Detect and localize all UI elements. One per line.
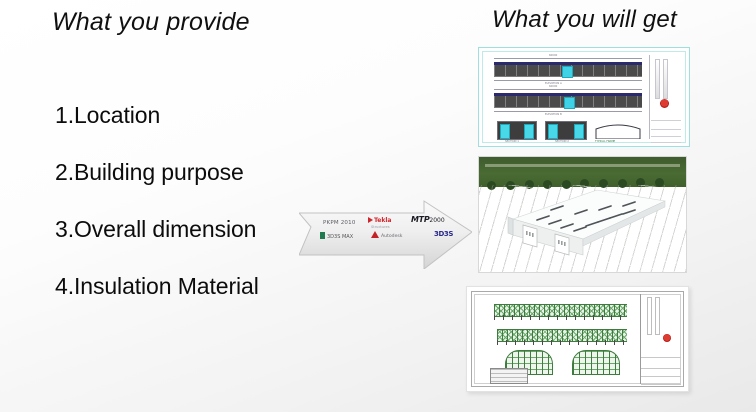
dimension-text-2: 60000 [549, 85, 557, 88]
drawing-title-block [640, 294, 681, 384]
elevation-view-1 [494, 62, 642, 77]
entry-door [562, 66, 573, 78]
title-block-row [641, 376, 681, 385]
title-strip-2 [655, 297, 660, 335]
list-item-insulation: 4.Insulation Material [55, 271, 385, 328]
title-strip-1 [647, 297, 652, 335]
section-label-1: SECTION 1 [505, 140, 519, 143]
portal-frame-2 [572, 350, 620, 375]
entry-door [564, 97, 575, 109]
window-pane [574, 124, 584, 139]
dimension-line-bottom-2 [494, 111, 642, 112]
window-pane [548, 124, 558, 139]
side-wall [508, 217, 513, 235]
view-label-2: ELEVATION B [545, 113, 562, 116]
cad-elevation-drawing: 60000 ELEVATION A 60000 ELEVATION B SECT… [478, 47, 690, 147]
logo-3d3s-max-label: 3D3S MAX [327, 234, 353, 240]
arrow-software-logos: PKPM 2010 3D3S MAX Tekla Structures Auto… [299, 199, 472, 269]
cad-sheet-frame: 60000 ELEVATION A 60000 ELEVATION B SECT… [482, 51, 686, 143]
title-bar-strip-2 [663, 59, 668, 99]
dimension-line-top-1 [494, 58, 642, 59]
logo-pkpm-label: PKPM 2010 [323, 220, 356, 226]
dimension-line-bottom-1 [494, 80, 642, 81]
list-item-location: 1.Location [55, 100, 385, 157]
tekla-triangle-icon [368, 217, 373, 223]
title-bar-strip-1 [655, 59, 660, 99]
logo-autodesk-label: Autodesk [381, 234, 402, 239]
drawing-sheet [471, 291, 684, 387]
logo-tekla-label: Tekla [374, 217, 391, 224]
portal-frame-label: TYPICAL FRAME [595, 140, 615, 143]
company-logo-icon [663, 334, 671, 342]
dimension-line-top-2 [494, 89, 642, 90]
logo-tekla-sublabel: Structures [371, 224, 390, 230]
window-pane [524, 124, 534, 139]
logo-mtp-label: MTP [411, 215, 429, 224]
autodesk-triangle-icon [371, 231, 379, 238]
column-row-1 [494, 315, 627, 320]
cad-title-block [649, 55, 682, 139]
logo-mtp: MTP2000 [411, 217, 445, 224]
logo-autodesk: Autodesk [371, 231, 402, 240]
dimension-text-1: 60000 [549, 54, 557, 57]
section-label-2: SECTION 2 [555, 140, 569, 143]
window-pane [500, 124, 510, 139]
logo-tekla: Tekla [368, 217, 391, 224]
slide-canvas: What you provide What you will get 1.Loc… [0, 0, 756, 412]
left-panel-heading: What you provide [52, 8, 250, 37]
logo-3d3s-max: 3D3S MAX [320, 232, 353, 240]
portal-frame-section [595, 121, 641, 139]
right-panel-heading: What you will get [492, 6, 677, 34]
structural-framing-drawing [466, 286, 689, 392]
green-square-icon [320, 232, 325, 239]
section-view-2 [545, 121, 587, 140]
company-logo-icon [660, 99, 669, 108]
warehouse-3d-render [478, 156, 687, 273]
warehouse-building [479, 157, 686, 272]
section-view-1 [497, 121, 537, 140]
title-block-row [651, 136, 681, 143]
logo-mtp-suffix: 2000 [429, 217, 444, 224]
process-arrow: PKPM 2010 3D3S MAX Tekla Structures Auto… [299, 199, 472, 269]
logo-3d3s-blue: 3D3S [434, 231, 453, 237]
member-schedule-table [490, 368, 528, 384]
elevation-view-2 [494, 93, 642, 108]
column-row-2 [497, 340, 627, 345]
